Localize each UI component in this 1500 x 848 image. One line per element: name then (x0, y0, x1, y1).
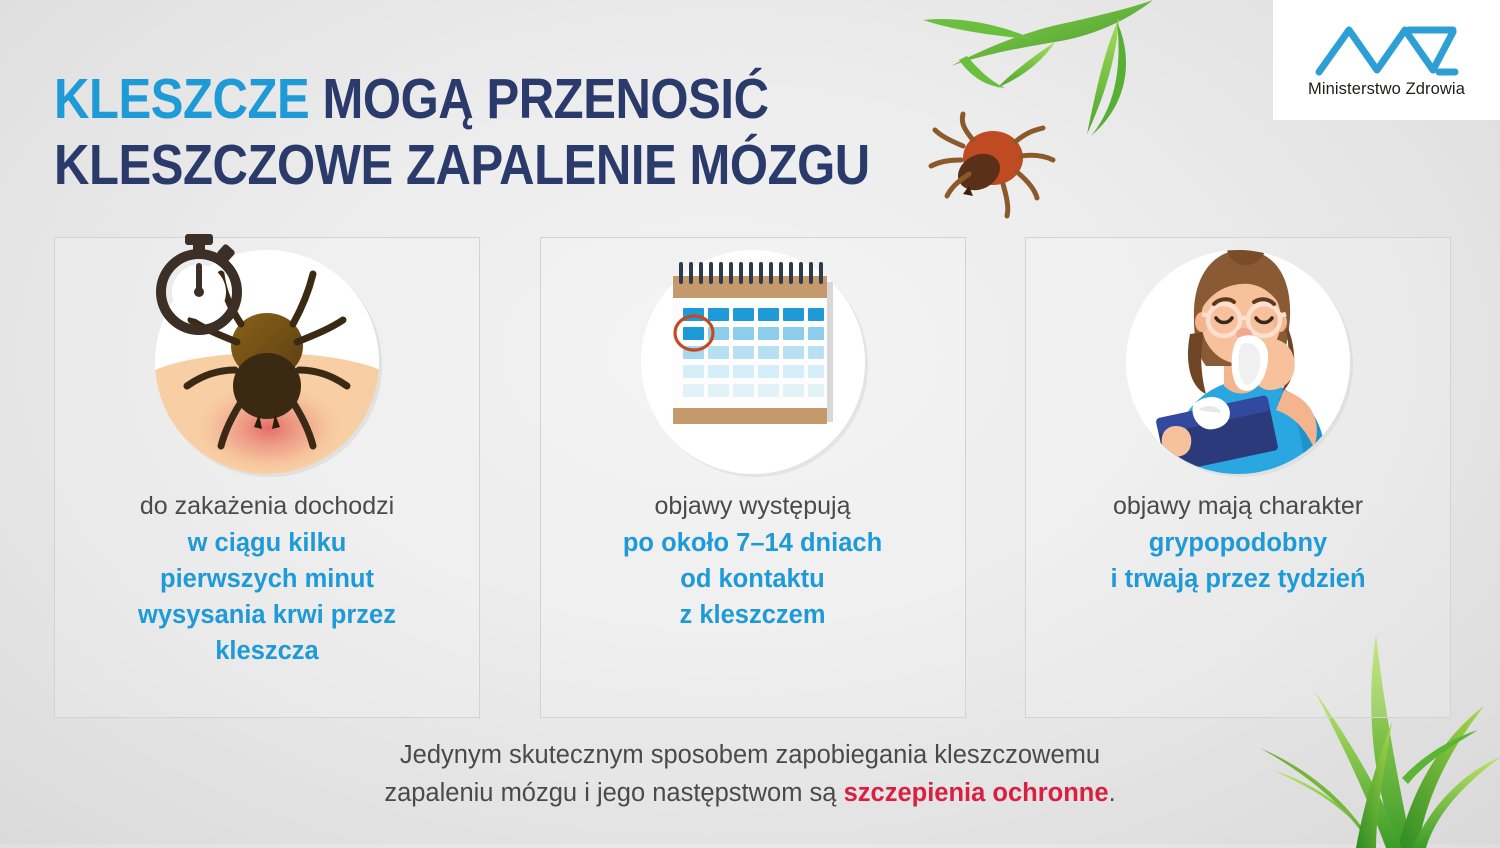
ministry-logo: Ministerstwo Zdrowia (1273, 0, 1500, 120)
card-1-media (55, 224, 479, 489)
card-2-media (541, 224, 965, 489)
leaf-branch-icon (905, 0, 1175, 226)
page-title: KLESZCZE MOGĄ PRZENOSIĆ KLESZCZOWE ZAPAL… (54, 66, 768, 198)
card-1-emph-line: w ciągu kilku (69, 525, 465, 561)
card-1-emph-line: pierwszych minut (69, 561, 465, 597)
card-1-emph-line: kleszcza (69, 633, 465, 669)
cards-row: do zakażenia dochodzi w ciągu kilku pier… (54, 237, 1451, 718)
card-1-emph-line: wysysania krwi przez (69, 597, 465, 633)
title-highlight: KLESZCZE (54, 67, 309, 131)
footer-note: Jedynym skutecznym sposobem zapobiegania… (0, 736, 1500, 812)
card-2-lead: objawy występują (555, 490, 951, 523)
card-1-emph: w ciągu kilku pierwszych minut wysysania… (69, 525, 465, 669)
card-3-text: objawy mają charakter grypopodobny i trw… (1040, 490, 1436, 597)
card-2-emph-line: z kleszczem (555, 597, 951, 633)
calendar-icon (623, 224, 883, 484)
card-2-emph: po około 7–14 dniach od kontaktu z klesz… (555, 525, 951, 633)
logo-caption: Ministerstwo Zdrowia (1308, 80, 1465, 99)
card-3-media (1026, 224, 1450, 489)
sick-woman-with-tissue-icon (1108, 224, 1368, 484)
mz-zigzag-logo-icon (1313, 22, 1461, 78)
title-line-1-rest: MOGĄ PRZENOSIĆ (309, 67, 768, 131)
footer-line-2: zapaleniu mózgu i jego następstwom są sz… (0, 774, 1500, 812)
card-1-text: do zakażenia dochodzi w ciągu kilku pier… (69, 490, 465, 669)
card-1-lead: do zakażenia dochodzi (69, 490, 465, 523)
footer-line-1: Jedynym skutecznym sposobem zapobiegania… (0, 736, 1500, 774)
card-infection-time: do zakażenia dochodzi w ciągu kilku pier… (54, 237, 480, 718)
card-2-text: objawy występują po około 7–14 dniach od… (555, 490, 951, 633)
card-3-emph-line: grypopodobny (1040, 525, 1436, 561)
title-line-1: KLESZCZE MOGĄ PRZENOSIĆ (54, 66, 768, 132)
footer-line-2-post: . (1109, 779, 1116, 807)
footer-line-2-pre: zapaleniu mózgu i jego następstwom są (384, 779, 843, 807)
card-symptom-onset: objawy występują po około 7–14 dniach od… (540, 237, 966, 718)
card-3-emph: grypopodobny i trwają przez tydzień (1040, 525, 1436, 597)
footer-emphasis: szczepienia ochronne (844, 779, 1109, 807)
title-line-2: KLESZCZOWE ZAPALENIE MÓZGU (54, 132, 768, 198)
card-3-lead: objawy mają charakter (1040, 490, 1436, 523)
card-2-emph-line: po około 7–14 dniach (555, 525, 951, 561)
card-3-emph-line: i trwają przez tydzień (1040, 561, 1436, 597)
card-2-emph-line: od kontaktu (555, 561, 951, 597)
infographic-canvas: Ministerstwo Zdrowia KLESZCZE MOGĄ PRZEN… (0, 0, 1500, 844)
card-symptom-character: objawy mają charakter grypopodobny i trw… (1025, 237, 1451, 718)
tick-bite-on-skin-with-stopwatch-icon (137, 224, 397, 484)
